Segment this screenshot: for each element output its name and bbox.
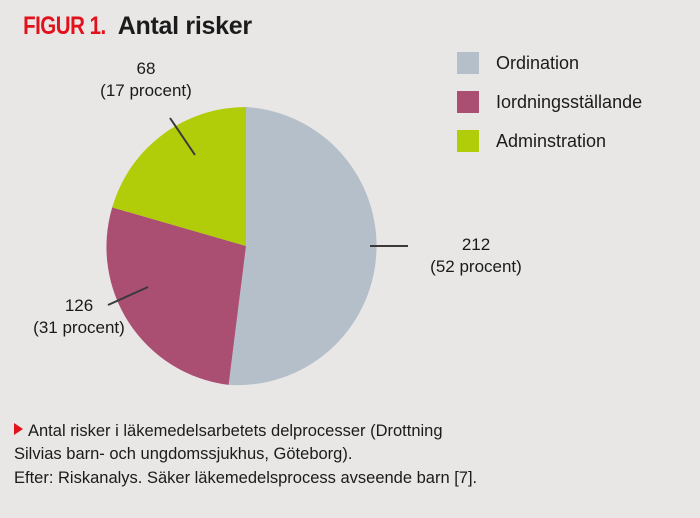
data-label-ordination-percent: (52 procent) (416, 256, 536, 278)
figure-caption: Antal risker i läkemedelsarbetets delpro… (14, 420, 686, 490)
data-label-iordningsstallande-value: 126 (14, 295, 144, 317)
data-label-ordination-value: 212 (416, 234, 536, 256)
legend-swatch-iordningsstallande (457, 91, 479, 113)
legend-swatch-adminstration (457, 130, 479, 152)
data-label-adminstration-percent: (17 procent) (86, 80, 206, 102)
data-label-iordningsstallande-percent: (31 procent) (14, 317, 144, 339)
legend-label-iordningsstallande: Iordningsställande (496, 92, 642, 113)
legend-item-adminstration[interactable]: Adminstration (457, 130, 642, 152)
triangle-marker-icon (14, 423, 23, 435)
caption-line-1: Antal risker i läkemedelsarbetets delpro… (14, 420, 686, 443)
figure-container: FIGUR 1. Antal risker 68 (17 procent) 21… (0, 0, 700, 518)
caption-line-1-text: Antal risker i läkemedelsarbetets delpro… (28, 422, 443, 440)
caption-line-3: Efter: Riskanalys. Säker läkemedelsproce… (14, 467, 686, 490)
chart-legend: Ordination Iordningsställande Adminstrat… (457, 52, 642, 169)
data-label-iordningsstallande: 126 (31 procent) (14, 295, 144, 340)
legend-label-adminstration: Adminstration (496, 131, 606, 152)
pie-chart: 68 (17 procent) 212 (52 procent) 126 (31… (0, 0, 700, 410)
caption-line-2: Silvias barn- och ungdomssjukhus, Götebo… (14, 443, 686, 466)
pie-slice-ordination[interactable] (229, 107, 377, 385)
data-label-ordination: 212 (52 procent) (416, 234, 536, 279)
legend-item-ordination[interactable]: Ordination (457, 52, 642, 74)
legend-swatch-ordination (457, 52, 479, 74)
data-label-adminstration: 68 (17 procent) (86, 58, 206, 103)
data-label-adminstration-value: 68 (86, 58, 206, 80)
legend-label-ordination: Ordination (496, 53, 579, 74)
legend-item-iordningsstallande[interactable]: Iordningsställande (457, 91, 642, 113)
